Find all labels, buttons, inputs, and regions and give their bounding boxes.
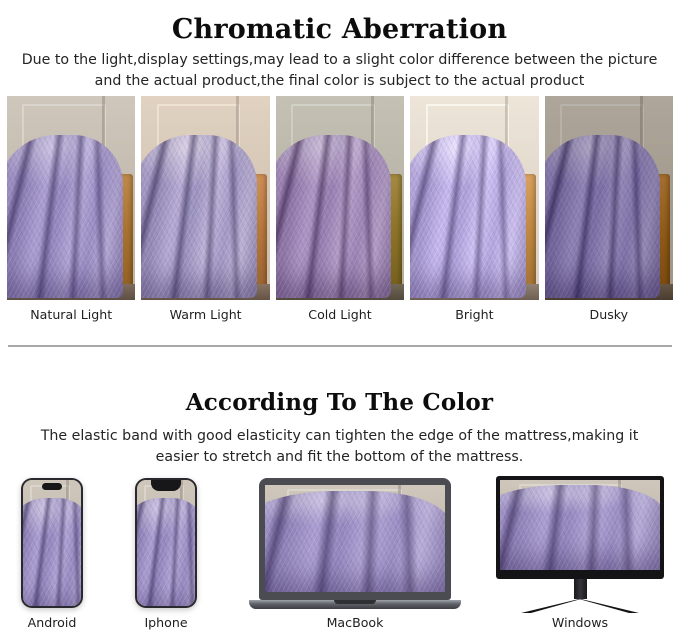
lighting-sample-photo-dusky (545, 96, 673, 300)
blanket-photo-icon (410, 96, 538, 300)
blanket-photo-icon (137, 480, 195, 606)
lighting-sample-photo-warm-light (141, 96, 269, 300)
purple-blanket (500, 485, 660, 570)
blanket-photo-icon (265, 485, 445, 592)
monitor-stand-base (521, 599, 639, 615)
android-phone-icon (0, 470, 104, 612)
purple-blanket (545, 135, 661, 298)
page-title-according-to-the-color: According To The Color (0, 389, 679, 417)
macbook-screen (265, 485, 445, 592)
android-phone-frame (21, 478, 83, 608)
lighting-sample-photo-cold-light (276, 96, 404, 300)
lighting-label-bright: Bright (410, 306, 538, 324)
blanket-photo-icon (7, 96, 135, 300)
windows-monitor-frame (496, 476, 664, 615)
device-preview-row: Android Iphone (0, 470, 679, 644)
monitor-bezel (496, 476, 664, 579)
purple-blanket (410, 135, 526, 298)
lighting-sample-photo-natural-light (7, 96, 135, 300)
lighting-label-dusky: Dusky (545, 306, 673, 324)
blanket-photo-icon (141, 96, 269, 300)
notch-icon (151, 480, 181, 491)
blanket-photo-icon (276, 96, 404, 300)
device-preview-macbook: MacBook (248, 470, 462, 644)
purple-blanket (23, 498, 81, 606)
device-preview-android: Android (0, 470, 104, 644)
lighting-sample-strip (7, 96, 673, 300)
device-label-iphone: Iphone (114, 614, 218, 632)
blanket-photo-icon (23, 480, 81, 606)
device-label-windows: Windows (495, 614, 665, 632)
page-title-chromatic-aberration: Chromatic Aberration (0, 14, 679, 46)
lighting-label-warm-light: Warm Light (141, 306, 269, 324)
camera-cutout-icon (42, 483, 62, 490)
blanket-photo-icon (500, 480, 660, 570)
according-to-the-color-description: The elastic band with good elasticity ca… (36, 426, 643, 468)
macbook-lid (259, 478, 451, 600)
blanket-photo-icon (545, 96, 673, 300)
purple-blanket (137, 498, 195, 606)
macbook-frame (249, 478, 461, 609)
device-preview-windows: Windows (495, 470, 665, 644)
purple-blanket (7, 135, 123, 298)
iphone-frame (135, 478, 197, 608)
device-label-macbook: MacBook (248, 614, 462, 632)
lighting-sample-photo-bright (410, 96, 538, 300)
device-preview-iphone: Iphone (114, 470, 218, 644)
iphone-notch-icon (114, 470, 218, 612)
trackpad-notch-icon (334, 600, 376, 604)
purple-blanket (265, 491, 445, 592)
device-label-android: Android (0, 614, 104, 632)
windows-monitor-icon (495, 470, 665, 612)
macbook-base (249, 600, 461, 609)
lighting-sample-label-row: Natural Light Warm Light Cold Light Brig… (7, 306, 673, 324)
purple-blanket (276, 135, 392, 298)
section-divider (8, 345, 672, 347)
monitor-neck (574, 579, 587, 599)
lighting-label-natural-light: Natural Light (7, 306, 135, 324)
lighting-label-cold-light: Cold Light (276, 306, 404, 324)
iphone-screen (137, 480, 195, 606)
chromatic-aberration-description: Due to the light,display settings,may le… (18, 50, 661, 92)
android-phone-screen (23, 480, 81, 606)
monitor-screen (500, 480, 660, 570)
purple-blanket (141, 135, 257, 298)
macbook-laptop-icon (248, 470, 462, 612)
